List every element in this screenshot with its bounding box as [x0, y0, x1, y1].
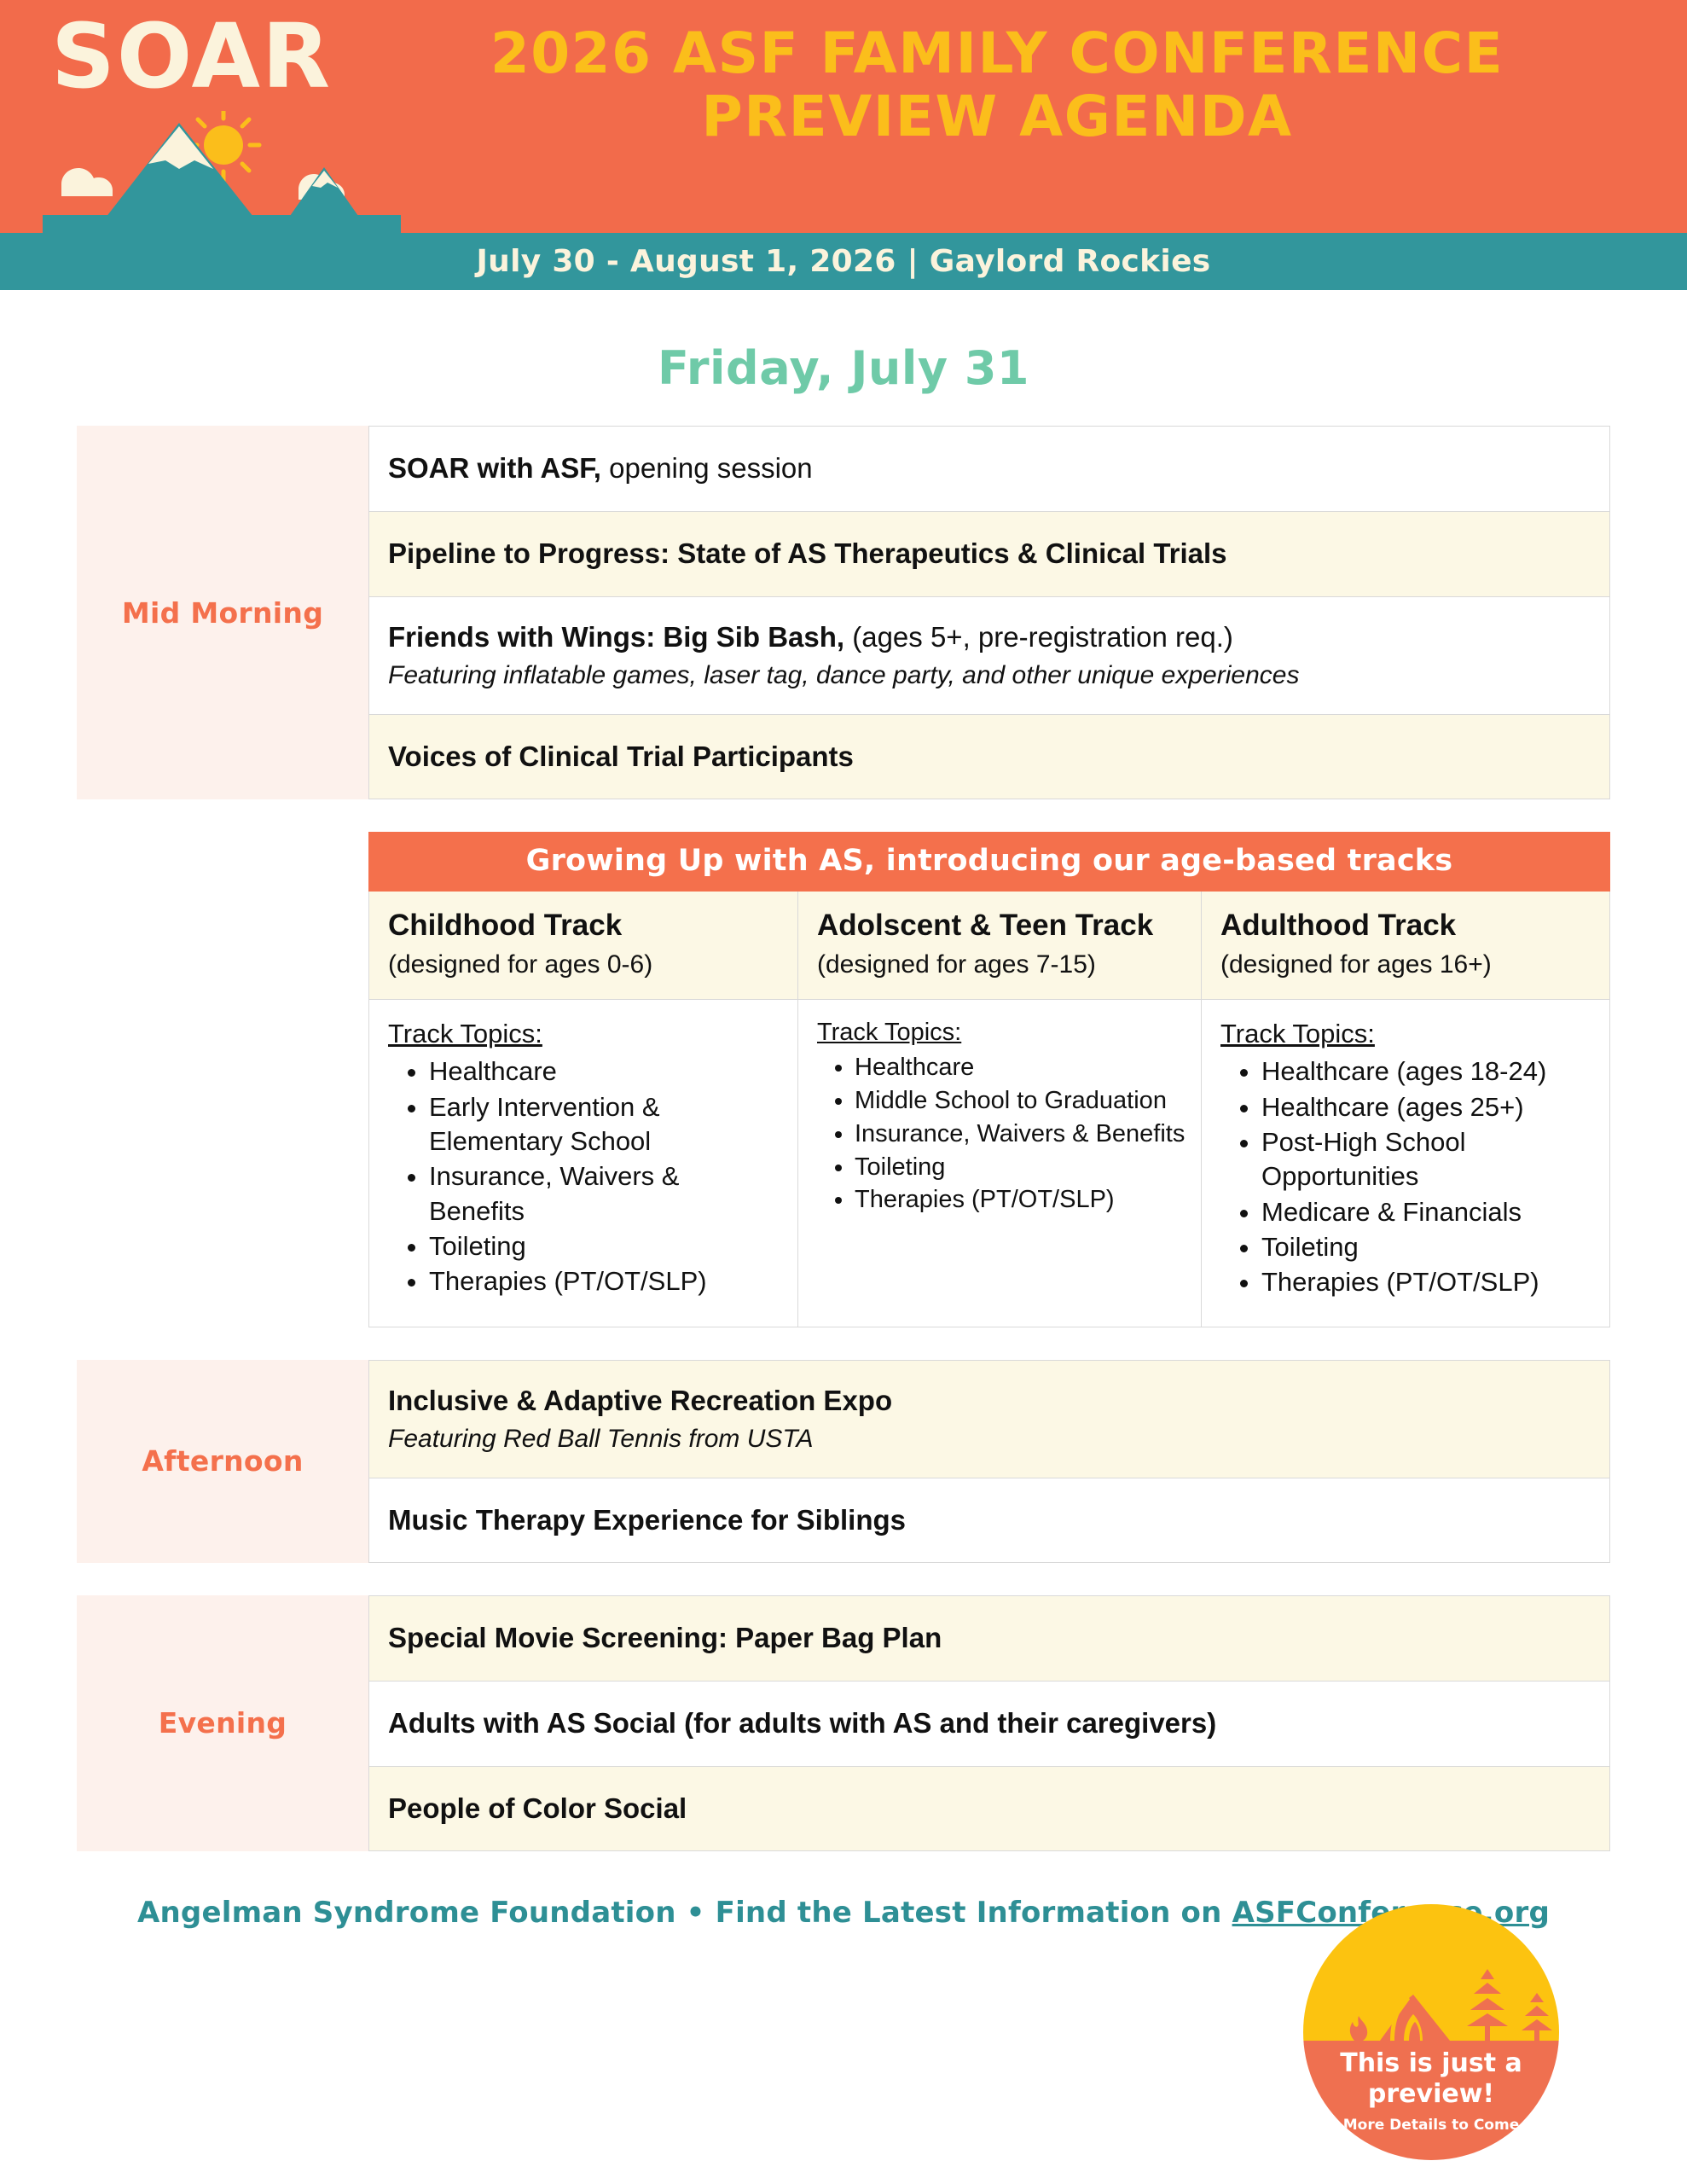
session-title: SOAR with ASF, opening session [388, 450, 1591, 486]
session-row[interactable]: Pipeline to Progress: State of AS Therap… [368, 511, 1610, 596]
track-topics-childhood: Track Topics: Healthcare Early Intervent… [369, 1000, 798, 1326]
session-title-rest: (ages 5+, pre-registration req.) [844, 621, 1233, 653]
date-venue-band: July 30 - August 1, 2026 | Gaylord Rocki… [0, 233, 1687, 290]
time-label-spacer [77, 832, 368, 1327]
session-title: Special Movie Screening: Paper Bag Plan [388, 1620, 1591, 1656]
page-header: SOAR 2026 ASF FAM [0, 0, 1687, 233]
session-title-bold: Special Movie Screening: Paper Bag Plan [388, 1622, 942, 1653]
track-topic-item: Toileting [1261, 1230, 1594, 1264]
track-topic-item: Therapies (PT/OT/SLP) [429, 1264, 782, 1298]
track-name: Childhood Track [388, 909, 780, 943]
header-title-line1: 2026 ASF FAMILY CONFERENCE [401, 22, 1593, 85]
mountain-sun-clouds-icon [43, 111, 401, 233]
session-title: People of Color Social [388, 1791, 1591, 1827]
track-header-childhood[interactable]: Childhood Track (designed for ages 0-6) [369, 892, 798, 999]
track-ages: (designed for ages 16+) [1220, 950, 1592, 980]
track-topic-item: Medicare & Financials [1261, 1195, 1594, 1229]
track-topic-item: Therapies (PT/OT/SLP) [1261, 1265, 1594, 1299]
agenda-block-afternoon: Afternoon Inclusive & Adaptive Recreatio… [77, 1360, 1610, 1563]
session-rows: Inclusive & Adaptive Recreation Expo Fea… [368, 1360, 1610, 1563]
session-rows: SOAR with ASF, opening session Pipeline … [368, 426, 1610, 799]
session-title: Music Therapy Experience for Siblings [388, 1502, 1591, 1538]
footer-separator: • [676, 1896, 716, 1930]
session-row[interactable]: People of Color Social [368, 1766, 1610, 1851]
session-title: Voices of Clinical Trial Participants [388, 739, 1591, 775]
track-topic-item: Healthcare (ages 18-24) [1261, 1054, 1594, 1089]
session-title-bold: People of Color Social [388, 1792, 687, 1824]
track-topic-item: Post-High School Opportunities [1261, 1125, 1594, 1194]
track-name: Adolscent & Teen Track [817, 909, 1184, 943]
session-title: Friends with Wings: Big Sib Bash, (ages … [388, 619, 1591, 655]
track-header-adolescent[interactable]: Adolscent & Teen Track (designed for age… [798, 892, 1202, 999]
campsite-tent-trees-campfire-icon: This is just a preview! More Details to … [1303, 1904, 1559, 2160]
track-topics-list: Healthcare Early Intervention & Elementa… [388, 1054, 782, 1298]
track-header-adulthood[interactable]: Adulthood Track (designed for ages 16+) [1202, 892, 1609, 999]
preview-sticker-badge: This is just a preview! More Details to … [1303, 1904, 1559, 2160]
session-title: Pipeline to Progress: State of AS Therap… [388, 536, 1591, 572]
track-topic-item: Insurance, Waivers & Benefits [855, 1118, 1186, 1151]
session-title-rest: opening session [601, 452, 813, 484]
session-title-bold: Music Therapy Experience for Siblings [388, 1504, 906, 1536]
track-topic-item: Insurance, Waivers & Benefits [429, 1159, 782, 1228]
track-topic-item: Healthcare (ages 25+) [1261, 1090, 1594, 1124]
session-row[interactable]: Inclusive & Adaptive Recreation Expo Fea… [368, 1360, 1610, 1478]
tracks-topics-row: Track Topics: Healthcare Early Intervent… [368, 1000, 1610, 1327]
session-title-bold: Inclusive & Adaptive Recreation Expo [388, 1385, 892, 1416]
agenda-block-mid-morning: Mid Morning SOAR with ASF, opening sessi… [77, 426, 1610, 799]
track-name: Adulthood Track [1220, 909, 1592, 943]
sticker-line-2: preview! [1368, 2079, 1494, 2109]
tracks-table: Growing Up with AS, introducing our age-… [368, 832, 1610, 1327]
header-title-line2: PREVIEW AGENDA [401, 85, 1593, 148]
sticker-line-1: This is just a [1340, 2048, 1522, 2078]
track-topics-adolescent: Track Topics: Healthcare Middle School t… [798, 1000, 1202, 1326]
track-topic-item: Healthcare [429, 1054, 782, 1089]
time-label-cell: Mid Morning [77, 426, 368, 799]
time-label: Afternoon [142, 1444, 303, 1478]
track-topics-label: Track Topics: [388, 1019, 782, 1049]
track-topic-item: Healthcare [855, 1052, 1186, 1084]
track-topics-label: Track Topics: [1220, 1019, 1594, 1049]
session-row[interactable]: Friends with Wings: Big Sib Bash, (ages … [368, 596, 1610, 714]
session-title-bold: Adults with AS Social (for adults with A… [388, 1707, 1216, 1739]
track-topic-item: Toileting [855, 1152, 1186, 1184]
session-title-bold: Voices of Clinical Trial Participants [388, 741, 854, 772]
time-label-cell: Evening [77, 1595, 368, 1851]
session-row[interactable]: Special Movie Screening: Paper Bag Plan [368, 1595, 1610, 1681]
sticker-line-3: More Details to Come [1343, 2117, 1519, 2134]
session-row[interactable]: Voices of Clinical Trial Participants [368, 714, 1610, 799]
agenda-block-evening: Evening Special Movie Screening: Paper B… [77, 1595, 1610, 1851]
time-label: Evening [159, 1706, 287, 1740]
session-title: Adults with AS Social (for adults with A… [388, 1705, 1591, 1741]
header-title-group: 2026 ASF FAMILY CONFERENCE PREVIEW AGEND… [401, 0, 1687, 148]
track-ages: (designed for ages 7-15) [817, 950, 1184, 980]
track-topic-item: Middle School to Graduation [855, 1085, 1186, 1118]
track-topic-item: Toileting [429, 1229, 782, 1263]
track-ages: (designed for ages 0-6) [388, 950, 780, 980]
logo-wordmark: SOAR [51, 12, 332, 101]
session-title-bold: SOAR with ASF, [388, 452, 601, 484]
session-title-bold: Friends with Wings: Big Sib Bash, [388, 621, 844, 653]
tracks-header-row: Childhood Track (designed for ages 0-6) … [368, 892, 1610, 1000]
footer-message: Find the Latest Information on [716, 1896, 1232, 1930]
session-row[interactable]: Music Therapy Experience for Siblings [368, 1478, 1610, 1563]
session-subtitle: Featuring Red Ball Tennis from USTA [388, 1422, 1591, 1455]
session-rows: Special Movie Screening: Paper Bag Plan … [368, 1595, 1610, 1851]
session-subtitle: Featuring inflatable games, laser tag, d… [388, 659, 1591, 692]
tracks-banner: Growing Up with AS, introducing our age-… [368, 832, 1610, 892]
date-venue-text: July 30 - August 1, 2026 | Gaylord Rocki… [476, 244, 1210, 279]
footer-org: Angelman Syndrome Foundation [137, 1896, 676, 1930]
track-topic-item: Early Intervention & Elementary School [429, 1090, 782, 1159]
session-row[interactable]: SOAR with ASF, opening session [368, 426, 1610, 511]
track-topics-list: Healthcare (ages 18-24) Healthcare (ages… [1220, 1054, 1594, 1299]
agenda-block-tracks: Growing Up with AS, introducing our age-… [77, 832, 1610, 1327]
time-label: Mid Morning [122, 596, 323, 630]
track-topic-item: Therapies (PT/OT/SLP) [855, 1184, 1186, 1217]
day-heading: Friday, July 31 [0, 341, 1687, 395]
agenda-body: Mid Morning SOAR with ASF, opening sessi… [0, 426, 1687, 1851]
time-label-cell: Afternoon [77, 1360, 368, 1563]
session-row[interactable]: Adults with AS Social (for adults with A… [368, 1681, 1610, 1766]
track-topics-adulthood: Track Topics: Healthcare (ages 18-24) He… [1202, 1000, 1609, 1326]
session-title-bold: Pipeline to Progress: State of AS Therap… [388, 537, 1227, 569]
track-topics-label: Track Topics: [817, 1019, 1186, 1047]
track-topics-list: Healthcare Middle School to Graduation I… [817, 1052, 1186, 1216]
session-title: Inclusive & Adaptive Recreation Expo [388, 1383, 1591, 1419]
soar-logo: SOAR [0, 0, 401, 233]
